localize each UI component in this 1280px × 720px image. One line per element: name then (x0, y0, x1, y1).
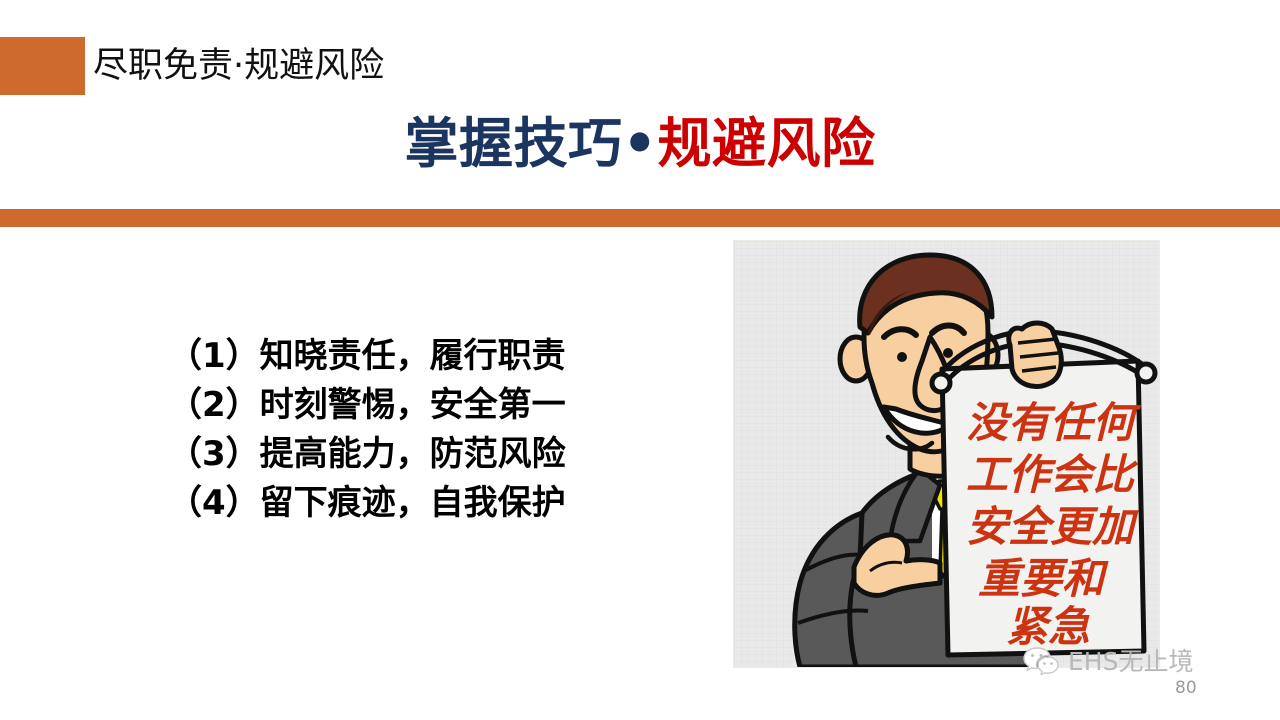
page-title-part-a: 掌握技巧 (404, 112, 622, 175)
banner-rod-cap-left (932, 374, 950, 392)
header-accent-swatch (0, 37, 85, 95)
title-divider-bar (0, 209, 1280, 227)
list-item: （2）时刻警惕，安全第一 (168, 381, 688, 430)
list-item: （1）知晓责任，履行职责 (168, 332, 688, 381)
watermark-text: EHS无止境 (1068, 649, 1193, 675)
banner-line: 重要和 (978, 554, 1109, 603)
page-title-separator: • (622, 112, 657, 175)
page-title: 掌握技巧•规避风险 (0, 108, 1280, 180)
list-item: （3）提高能力，防范风险 (168, 430, 688, 479)
banner-line: 安全更加 (966, 502, 1139, 551)
eye-right (943, 348, 953, 358)
bullet-list: （1）知晓责任，履行职责 （2）时刻警惕，安全第一 （3）提高能力，防范风险 （… (168, 332, 688, 528)
wechat-icon (1022, 645, 1062, 679)
slide-canvas: 尽职免责·规避风险 掌握技巧•规避风险 （1）知晓责任，履行职责 （2）时刻警惕… (0, 0, 1280, 720)
illustration-image: 没有任何 工作会比 安全更加 重要和 紧急 (733, 240, 1160, 668)
banner-line: 紧急 (1006, 602, 1090, 651)
banner-line: 工作会比 (966, 450, 1139, 499)
watermark: EHS无止境 (1022, 645, 1193, 679)
header-title: 尽职免责·规避风险 (93, 40, 384, 92)
banner-line: 没有任何 (966, 398, 1142, 447)
list-item: （4）留下痕迹，自我保护 (168, 479, 688, 528)
eye-left (897, 352, 907, 362)
page-number: 80 (1175, 678, 1197, 698)
page-title-part-b: 规避风险 (658, 112, 876, 175)
banner-rod-cap-right (1137, 364, 1155, 382)
